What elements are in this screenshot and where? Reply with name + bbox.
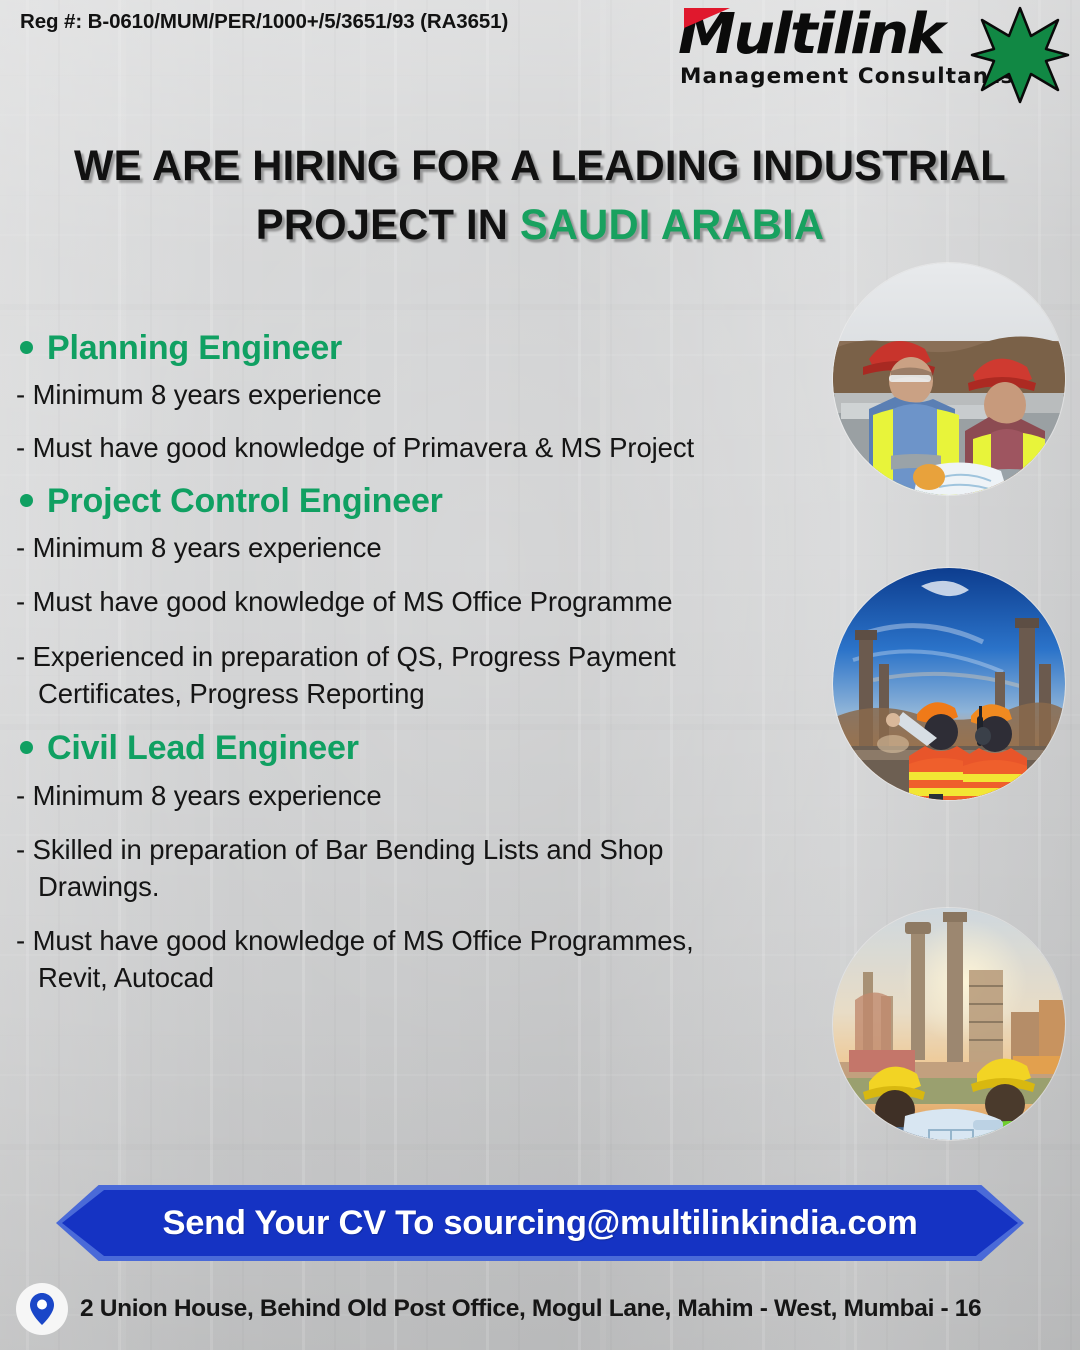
- bullet-icon: [20, 494, 33, 507]
- job-requirement: - Must have good knowledge of Primavera …: [14, 430, 844, 467]
- photo-refinery-sunset: [833, 568, 1065, 800]
- headline-line-2: PROJECT IN SAUDI ARABIA: [16, 196, 1064, 255]
- eight-pointed-star-icon: [970, 6, 1070, 104]
- requirement-line: - Must have good knowledge of MS Office …: [16, 586, 672, 617]
- headline-country-accent: SAUDI ARABIA: [520, 201, 824, 249]
- job-item: Civil Lead Engineer - Minimum 8 years ex…: [14, 730, 844, 996]
- job-title-row: Planning Engineer: [14, 330, 844, 367]
- logo-tagline: Management Consultants: [680, 64, 1014, 89]
- job-title: Project Control Engineer: [47, 483, 443, 520]
- requirement-line: - Must have good knowledge of Primavera …: [16, 432, 694, 463]
- address-text: 2 Union House, Behind Old Post Office, M…: [80, 1295, 981, 1323]
- headline-line-2-prefix: PROJECT IN: [256, 201, 520, 249]
- requirement-line-continued: Revit, Autocad: [16, 960, 844, 997]
- location-pin-icon: [16, 1283, 68, 1335]
- job-requirement: - Experienced in preparation of QS, Prog…: [14, 639, 844, 712]
- requirement-line: - Skilled in preparation of Bar Bending …: [16, 834, 663, 865]
- cv-banner-text: Send Your CV To sourcing@multilinkindia.…: [163, 1204, 918, 1243]
- job-requirement: - Must have good knowledge of MS Office …: [14, 584, 844, 621]
- photo-engineers-blueprint: [833, 263, 1065, 495]
- job-item: Planning Engineer - Minimum 8 years expe…: [14, 330, 844, 467]
- job-title: Planning Engineer: [47, 330, 342, 367]
- company-logo: Multilink Management Consultants: [672, 2, 1072, 102]
- job-requirement: - Must have good knowledge of MS Office …: [14, 923, 844, 996]
- job-title: Civil Lead Engineer: [47, 730, 359, 767]
- hiring-poster: Reg #: B-0610/MUM/PER/1000+/5/3651/93 (R…: [0, 0, 1080, 1350]
- registration-number: Reg #: B-0610/MUM/PER/1000+/5/3651/93 (R…: [20, 8, 540, 36]
- address-row: 2 Union House, Behind Old Post Office, M…: [16, 1283, 1066, 1335]
- logo-red-accent-icon: [684, 8, 730, 28]
- headline-line-1: WE ARE HIRING FOR A LEADING INDUSTRIAL: [16, 137, 1064, 196]
- job-list: Planning Engineer - Minimum 8 years expe…: [14, 330, 844, 1014]
- requirement-line: - Must have good knowledge of MS Office …: [16, 925, 694, 956]
- requirement-line: - Minimum 8 years experience: [16, 532, 382, 563]
- job-requirement: - Skilled in preparation of Bar Bending …: [14, 832, 844, 905]
- job-requirement: - Minimum 8 years experience: [14, 530, 844, 567]
- job-requirement: - Minimum 8 years experience: [14, 377, 844, 414]
- requirement-line: - Experienced in preparation of QS, Prog…: [16, 641, 676, 672]
- job-title-row: Civil Lead Engineer: [14, 730, 844, 767]
- job-item: Project Control Engineer - Minimum 8 yea…: [14, 483, 844, 713]
- bullet-icon: [20, 741, 33, 754]
- requirement-line: - Minimum 8 years experience: [16, 780, 382, 811]
- bullet-icon: [20, 341, 33, 354]
- requirement-line-continued: Drawings.: [16, 869, 844, 906]
- requirement-line: - Minimum 8 years experience: [16, 379, 382, 410]
- job-title-row: Project Control Engineer: [14, 483, 844, 520]
- photo-plant-drawings: [833, 908, 1065, 1140]
- cv-banner[interactable]: Send Your CV To sourcing@multilinkindia.…: [62, 1190, 1018, 1256]
- page-title: WE ARE HIRING FOR A LEADING INDUSTRIAL P…: [16, 137, 1064, 256]
- job-requirement: - Minimum 8 years experience: [14, 778, 844, 815]
- requirement-line-continued: Certificates, Progress Reporting: [16, 676, 844, 713]
